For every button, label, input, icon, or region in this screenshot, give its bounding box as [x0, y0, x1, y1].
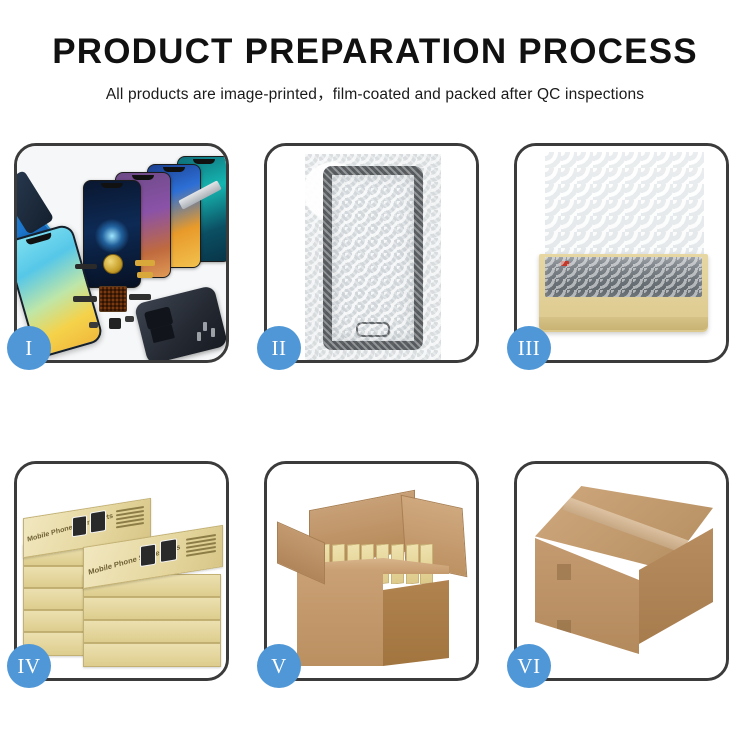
wrapped-screen-in-box-icon — [545, 257, 702, 297]
kraft-box-base-icon — [539, 254, 708, 332]
open-shipping-carton — [275, 486, 473, 666]
box-art-thumb-icon — [140, 544, 156, 568]
process-step-panel-6[interactable]: VI — [514, 461, 729, 681]
process-step-panel-1[interactable]: I — [14, 143, 229, 363]
antenna-bar-part-icon — [75, 264, 97, 269]
open-carton-scene — [267, 464, 476, 678]
kraft-box-slab — [83, 643, 221, 667]
page-header: PRODUCT PREPARATION PROCESS All products… — [0, 0, 750, 104]
tweezers-icon — [178, 180, 222, 209]
carton-handle-slot — [557, 564, 571, 580]
connector-grid-part-icon — [99, 286, 127, 312]
sealed-carton-scene — [517, 464, 726, 678]
kraft-box-stack: Mobile Phone Spare Parts Mobile Phon — [23, 478, 223, 668]
step-badge-2: II — [257, 326, 301, 370]
bubble-wrap-scene — [267, 146, 476, 360]
box-spec-lines — [186, 534, 216, 559]
box-art-thumb-icon — [160, 538, 177, 563]
box-art-thumb-icon — [72, 515, 87, 537]
button-part-icon — [89, 322, 98, 328]
panel-6-image — [517, 464, 726, 678]
kraft-box-front-lip — [539, 317, 708, 330]
screw-part-icon — [211, 328, 215, 337]
panel-1-image — [17, 146, 226, 360]
stacked-boxes-scene: Mobile Phone Spare Parts Mobile Phon — [17, 464, 226, 678]
flex-cable-part-icon — [137, 272, 153, 278]
panel-2-image — [267, 146, 476, 360]
process-step-grid: I II — [14, 143, 736, 681]
page-title: PRODUCT PREPARATION PROCESS — [0, 34, 750, 71]
process-step-panel-3[interactable]: III — [514, 143, 729, 363]
sealed-shipping-carton — [527, 486, 723, 666]
flex-cable-dark-part-icon — [129, 294, 151, 300]
speaker-part-icon — [109, 318, 121, 329]
kraft-box-slab — [83, 597, 221, 620]
step-badge-5: V — [257, 644, 301, 688]
screw-part-icon — [197, 332, 201, 341]
wrapped-phone-screen-icon — [323, 166, 423, 350]
phone-parts-scene — [17, 146, 226, 360]
step-badge-1: I — [7, 326, 51, 370]
kraft-box-slab — [83, 620, 221, 643]
panel-4-image: Mobile Phone Spare Parts Mobile Phon — [17, 464, 226, 678]
red-label-icon — [561, 261, 569, 266]
step-badge-6: VI — [507, 644, 551, 688]
step-badge-4: IV — [7, 644, 51, 688]
process-step-panel-5[interactable]: V — [264, 461, 479, 681]
process-step-panel-2[interactable]: II — [264, 143, 479, 363]
page-subtitle: All products are image-printed，film-coat… — [0, 82, 750, 104]
carton-handle-slot — [557, 620, 571, 636]
step-badge-3: III — [507, 326, 551, 370]
box-art-thumb-icon — [90, 510, 106, 534]
process-step-panel-4[interactable]: Mobile Phone Spare Parts Mobile Phon — [14, 461, 229, 681]
bubble-wrap-background — [305, 154, 441, 360]
coil-part-icon — [103, 254, 123, 274]
flex-cable-part-icon — [135, 260, 155, 266]
carton-side-face — [383, 580, 449, 666]
box-spec-lines — [116, 506, 144, 530]
button-part-icon — [125, 316, 134, 322]
kraft-box-open-group — [539, 152, 708, 336]
carton-front-face — [297, 570, 383, 666]
boxed-screen-scene — [517, 146, 726, 360]
screw-part-icon — [203, 322, 207, 331]
spare-parts-group — [17, 146, 226, 360]
flex-cable-dark-part-icon — [73, 296, 97, 302]
panel-5-image — [267, 464, 476, 678]
panel-3-image — [517, 146, 726, 360]
